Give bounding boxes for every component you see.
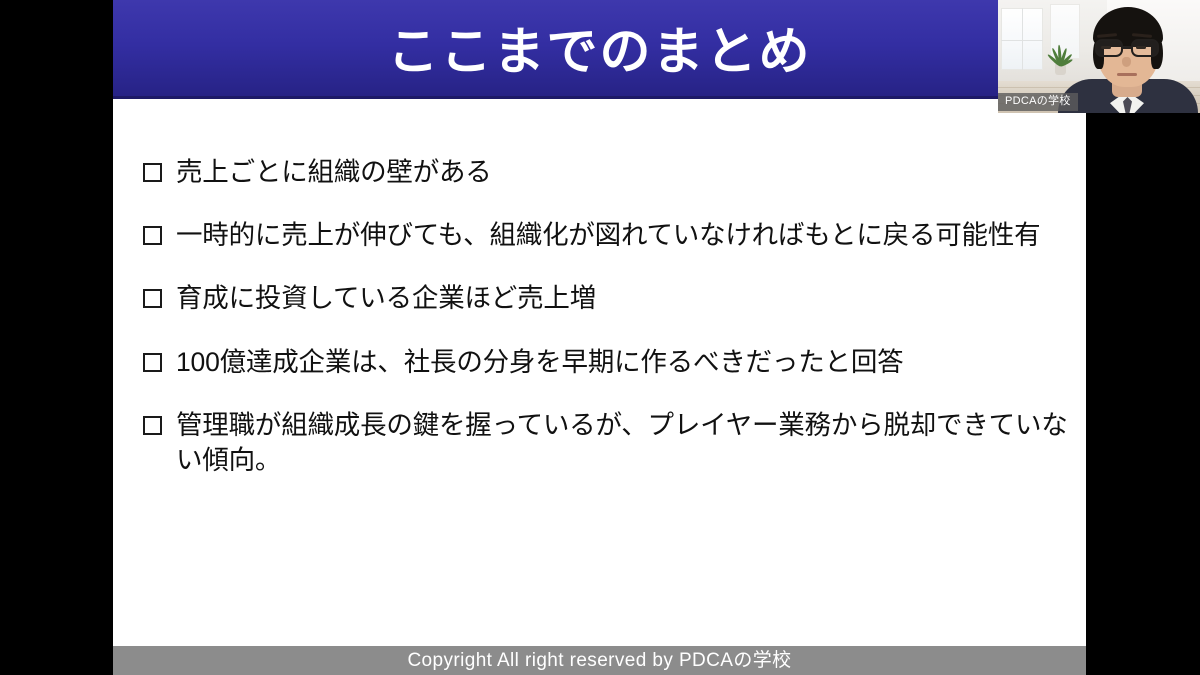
list-item: 売上ごとに組織の壁がある [143,155,1073,190]
checkbox-empty-icon [143,226,162,245]
list-item-label: 100億達成企業は、社長の分身を早期に作るべきだったと回答 [176,345,1073,380]
slide-title-banner: ここまでのまとめ [113,0,1086,99]
glasses-lens-right [1131,39,1159,57]
checkbox-empty-icon [143,353,162,372]
glasses-lens-left [1095,39,1123,57]
copyright-text: Copyright All right reserved by PDCAの学校 [407,651,791,670]
window-icon [1001,8,1043,70]
list-item-label: 売上ごとに組織の壁がある [176,155,1073,190]
list-item: 管理職が組織成長の鍵を握っているが、プレイヤー業務から脱却できていない傾向。 [143,408,1073,478]
screen-root: ここまでのまとめ 売上ごとに組織の壁がある 一時的に売上が伸びても、組織化が図れ… [0,0,1200,675]
list-item-label: 一時的に売上が伸びても、組織化が図れていなければもとに戻る可能性有 [176,218,1073,253]
slide-bullet-list: 売上ごとに組織の壁がある 一時的に売上が伸びても、組織化が図れていなければもとに… [143,155,1073,506]
window-mullion-horizontal [1001,40,1043,41]
slide-footer-bar: Copyright All right reserved by PDCAの学校 [113,646,1086,675]
checkbox-empty-icon [143,416,162,435]
presentation-slide: ここまでのまとめ 売上ごとに組織の壁がある 一時的に売上が伸びても、組織化が図れ… [113,0,1086,675]
glasses-icon [1093,39,1163,58]
list-item-label: 管理職が組織成長の鍵を握っているが、プレイヤー業務から脱却できていない傾向。 [176,408,1073,478]
list-item: 育成に投資している企業ほど売上増 [143,281,1073,316]
slide-title: ここまでのまとめ [387,26,811,77]
presenter-avatar [1070,0,1188,113]
checkbox-empty-icon [143,289,162,308]
list-item-label: 育成に投資している企業ほど売上増 [176,281,1073,316]
window-mullion-vertical [1022,8,1023,70]
participant-name-label: PDCAの学校 [998,93,1078,111]
list-item: 100億達成企業は、社長の分身を早期に作るべきだったと回答 [143,345,1073,380]
list-item: 一時的に売上が伸びても、組織化が図れていなければもとに戻る可能性有 [143,218,1073,253]
presenter-mouth [1117,73,1137,76]
presenter-video-tile[interactable]: PDCAの学校 [998,0,1200,113]
presenter-nose [1122,57,1131,67]
checkbox-empty-icon [143,163,162,182]
banner-shadow-strip [113,96,1086,99]
